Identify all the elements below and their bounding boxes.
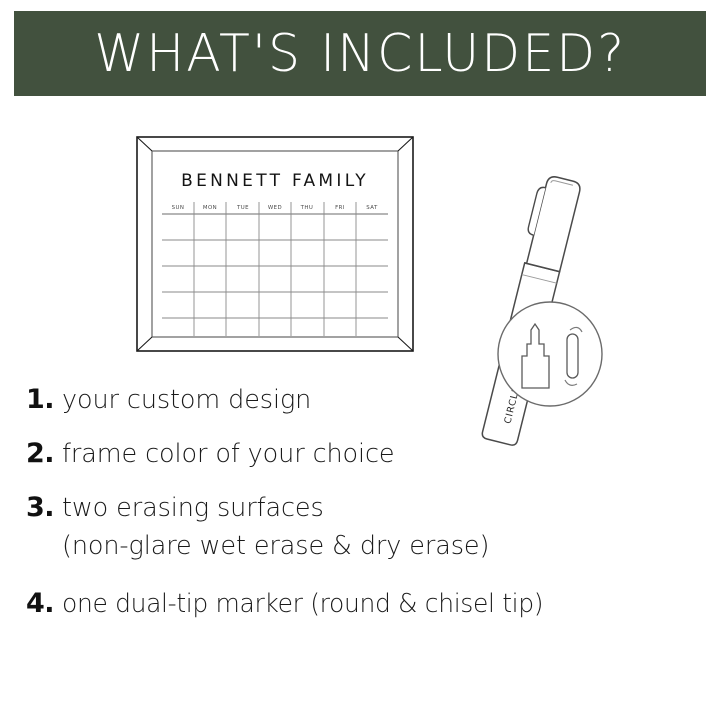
list-item-text: frame color of your choice	[62, 436, 707, 472]
illustration-band: BENNETT FAMILY SUN MON TUE WED THU FRI S…	[0, 100, 720, 375]
list-item-secondary-text: (non-glare wet erase & dry erase)	[62, 528, 707, 564]
list-item: 2. frame color of your choice	[0, 436, 720, 472]
list-item-number: 1.	[26, 382, 56, 418]
svg-text:SUN: SUN	[172, 205, 185, 211]
list-item: 4. one dual-tip marker (round & chisel t…	[0, 586, 720, 622]
list-item: 3. two erasing surfaces (non-glare wet e…	[0, 490, 720, 564]
list-item: 1. your custom design	[0, 382, 720, 418]
list-item-text: two erasing surfaces	[62, 490, 707, 526]
header-banner: WHAT'S INCLUDED?	[14, 11, 706, 96]
svg-text:MON: MON	[203, 205, 217, 211]
list-item-text-wrap: your custom design	[56, 382, 720, 418]
svg-text:THU: THU	[300, 205, 314, 211]
list-item-number: 3.	[26, 490, 56, 526]
svg-text:WED: WED	[268, 205, 282, 211]
calendar-whiteboard-illustration: BENNETT FAMILY SUN MON TUE WED THU FRI S…	[136, 136, 414, 352]
calendar-board-title: BENNETT FAMILY	[181, 171, 369, 191]
included-items-list: 1. your custom design 2. frame color of …	[0, 382, 720, 622]
list-item-text-wrap: frame color of your choice	[56, 436, 720, 472]
page-title: WHAT'S INCLUDED?	[94, 28, 626, 80]
svg-text:SAT: SAT	[366, 205, 378, 211]
svg-text:TUE: TUE	[236, 205, 249, 211]
list-item-text: one dual-tip marker (round & chisel tip)	[62, 586, 707, 622]
list-item-number: 2.	[26, 436, 56, 472]
svg-text:FRI: FRI	[335, 205, 345, 211]
list-item-text-wrap: one dual-tip marker (round & chisel tip)	[56, 586, 720, 622]
round-tip-icon	[567, 334, 578, 378]
list-item-text-wrap: two erasing surfaces (non-glare wet eras…	[56, 490, 720, 564]
list-item-number: 4.	[26, 586, 56, 622]
list-item-text: your custom design	[62, 382, 707, 418]
